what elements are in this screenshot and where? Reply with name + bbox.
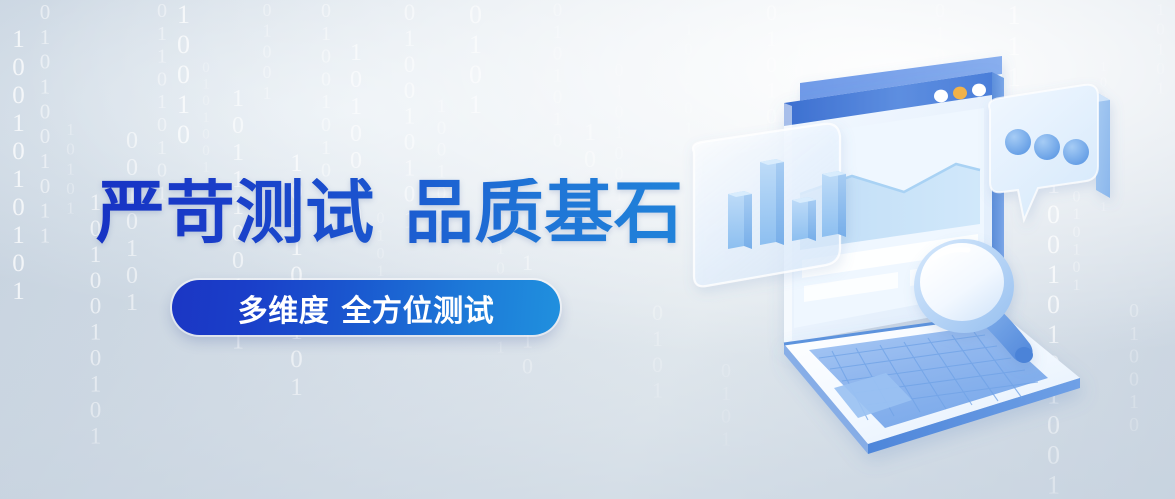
titlebar-dot-1 xyxy=(934,90,948,103)
binary-column: 10101 xyxy=(1152,0,1169,98)
subtitle-part-1: 多维度 xyxy=(238,295,330,328)
titlebar-dot-3 xyxy=(972,84,986,97)
bar-chart-card xyxy=(693,124,846,287)
headline-part-2: 品质基石 xyxy=(405,174,684,251)
card-bar-1 xyxy=(728,191,752,249)
bubble-dot-2 xyxy=(1034,134,1060,160)
headline-part-1: 严苛测试 xyxy=(96,174,375,251)
magnifier-handle-cap xyxy=(1015,347,1033,363)
speech-bubble xyxy=(988,85,1110,220)
card-bar-2 xyxy=(760,159,784,245)
binary-column: 0101 xyxy=(646,300,668,404)
subtitle-pill-label: 多维度全方位测试 xyxy=(238,286,495,330)
magnifier-lens xyxy=(920,243,1004,321)
binary-column: 0101 xyxy=(462,0,488,120)
hero-illustration xyxy=(672,48,1132,478)
binary-column: 0101010 xyxy=(548,0,567,152)
subtitle-part-2: 全方位测试 xyxy=(341,295,494,328)
binary-column: 1001010101 xyxy=(6,26,31,306)
binary-column: 01001 xyxy=(258,0,276,104)
binary-column: 10010 xyxy=(170,0,196,150)
card-bar-4 xyxy=(822,171,846,237)
titlebar-dot-2 xyxy=(953,87,967,100)
page-title: 严苛测试品质基石 xyxy=(96,178,684,247)
binary-column: 0101001 xyxy=(198,60,213,176)
bubble-dot-1 xyxy=(1005,129,1031,155)
bubble-dot-3 xyxy=(1063,139,1089,165)
card-bar-3 xyxy=(792,197,816,241)
subtitle-pill[interactable]: 多维度全方位测试 xyxy=(172,280,560,335)
promo-banner: 1001010101010100101110101101001010100101… xyxy=(0,0,1175,499)
binary-column: 0101001011 xyxy=(34,0,55,248)
binary-column: 10101 xyxy=(62,120,79,218)
